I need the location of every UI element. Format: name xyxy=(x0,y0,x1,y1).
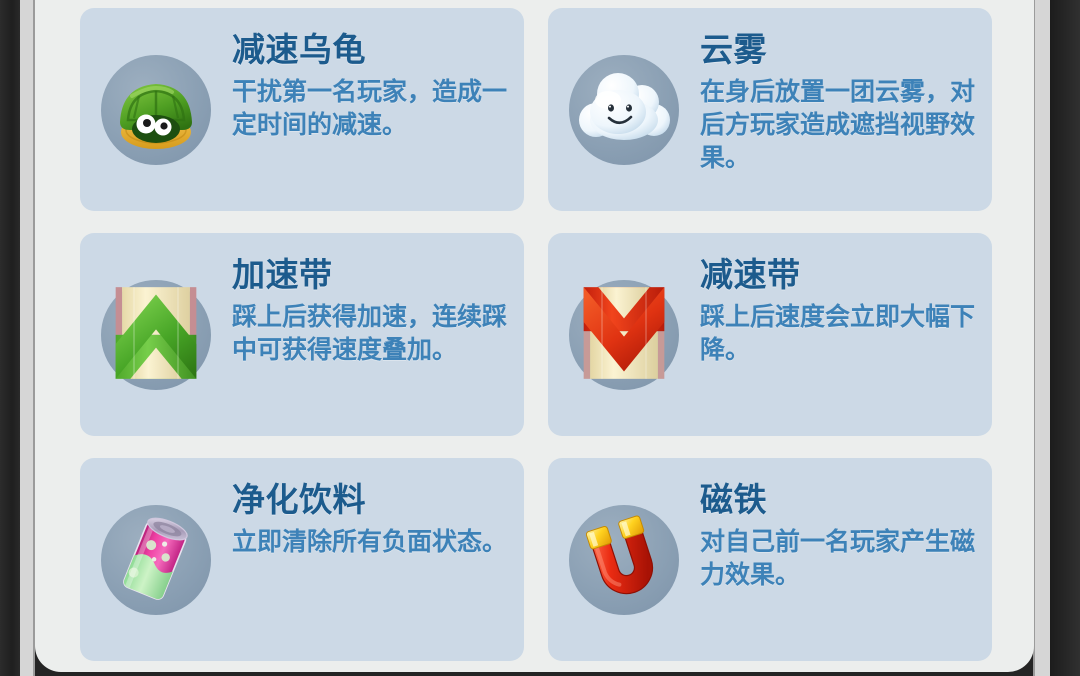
device-bezel-left xyxy=(0,0,20,676)
item-icon-container xyxy=(80,8,232,211)
icon-disc xyxy=(569,280,679,390)
red-down-arrow-slow-pad-icon xyxy=(569,271,679,395)
item-text-block: 净化饮料 立即清除所有负面状态。 xyxy=(232,458,524,559)
item-card[interactable]: 加速带 踩上后获得加速，连续踩中可获得速度叠加。 xyxy=(80,233,524,436)
icon-disc xyxy=(101,55,211,165)
icon-disc xyxy=(569,55,679,165)
item-description: 干扰第一名玩家，造成一定时间的减速。 xyxy=(232,76,510,142)
page-gutter-left xyxy=(20,0,34,676)
item-text-block: 减速乌龟 干扰第一名玩家，造成一定时间的减速。 xyxy=(232,8,524,142)
content-panel: 减速乌龟 干扰第一名玩家，造成一定时间的减速。 xyxy=(35,0,1034,672)
item-description: 踩上后获得加速，连续踩中可获得速度叠加。 xyxy=(232,301,510,367)
item-description: 立即清除所有负面状态。 xyxy=(232,526,510,559)
page-gutter-right xyxy=(1034,0,1050,676)
item-description: 在身后放置一团云雾，对后方玩家造成遮挡视野效果。 xyxy=(700,76,978,175)
item-text-block: 加速带 踩上后获得加速，连续踩中可获得速度叠加。 xyxy=(232,233,524,367)
green-turtle-shell-icon xyxy=(106,60,206,160)
item-icon-container xyxy=(548,458,700,661)
item-title: 减速带 xyxy=(700,257,978,293)
item-title: 净化饮料 xyxy=(232,482,510,518)
item-title: 减速乌龟 xyxy=(232,32,510,68)
screen: 减速乌龟 干扰第一名玩家，造成一定时间的减速。 xyxy=(0,0,1080,676)
item-description: 对自己前一名玩家产生磁力效果。 xyxy=(700,526,978,592)
item-icon-container xyxy=(548,8,700,211)
item-card[interactable]: 净化饮料 立即清除所有负面状态。 xyxy=(80,458,524,661)
item-card[interactable]: 减速带 踩上后速度会立即大幅下降。 xyxy=(548,233,992,436)
red-horseshoe-magnet-icon xyxy=(572,508,676,612)
item-title: 磁铁 xyxy=(700,482,978,518)
icon-disc xyxy=(101,505,211,615)
item-card[interactable]: 减速乌龟 干扰第一名玩家，造成一定时间的减速。 xyxy=(80,8,524,211)
item-description: 踩上后速度会立即大幅下降。 xyxy=(700,301,978,367)
icon-disc xyxy=(569,505,679,615)
item-text-block: 云雾 在身后放置一团云雾，对后方玩家造成遮挡视野效果。 xyxy=(700,8,992,175)
smiling-cloud-icon xyxy=(572,58,676,162)
item-card-grid: 减速乌龟 干扰第一名玩家，造成一定时间的减速。 xyxy=(80,8,992,661)
item-text-block: 减速带 踩上后速度会立即大幅下降。 xyxy=(700,233,992,367)
item-icon-container xyxy=(548,233,700,436)
item-card[interactable]: 磁铁 对自己前一名玩家产生磁力效果。 xyxy=(548,458,992,661)
green-up-arrow-boost-pad-icon xyxy=(101,271,211,395)
item-text-block: 磁铁 对自己前一名玩家产生磁力效果。 xyxy=(700,458,992,592)
item-card[interactable]: 云雾 在身后放置一团云雾，对后方玩家造成遮挡视野效果。 xyxy=(548,8,992,211)
item-icon-container xyxy=(80,233,232,436)
item-title: 云雾 xyxy=(700,32,978,68)
pink-soda-can-icon xyxy=(104,508,208,612)
item-icon-container xyxy=(80,458,232,661)
item-title: 加速带 xyxy=(232,257,510,293)
icon-disc xyxy=(101,280,211,390)
device-bezel-right xyxy=(1050,0,1080,676)
